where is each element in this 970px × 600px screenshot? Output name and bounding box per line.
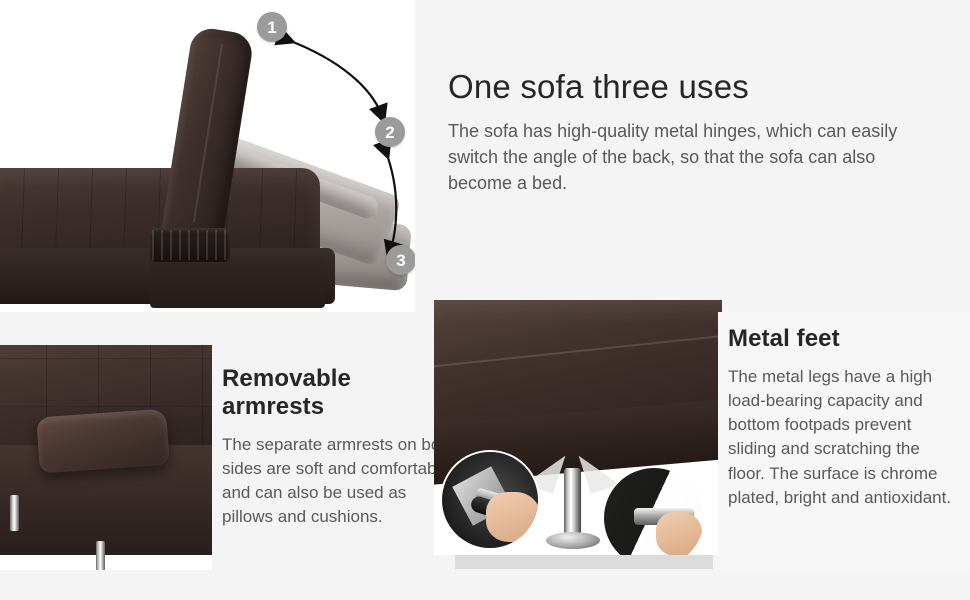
sofa-base-frame-extension xyxy=(150,258,325,308)
armrest-title: Removable armrests xyxy=(222,365,457,421)
step-badge-2: 2 xyxy=(375,117,405,147)
recline-photo: 1 2 3 xyxy=(0,0,415,312)
feet-body: The metal legs have a high load-bearing … xyxy=(728,365,960,510)
chrome-leg-footpad xyxy=(546,532,600,549)
leg-attachment-callout xyxy=(604,468,704,555)
chrome-leg-post xyxy=(564,468,581,540)
hand-icon-right xyxy=(656,512,702,555)
step-badge-3: 3 xyxy=(386,245,415,275)
recline-title: One sofa three uses xyxy=(448,68,940,106)
armrest-photo-panel xyxy=(0,345,212,570)
cushion-seam xyxy=(434,334,722,368)
feet-text-block: Metal feet The metal legs have a high lo… xyxy=(728,325,960,510)
recline-body: The sofa has high-quality metal hinges, … xyxy=(448,118,940,196)
chrome-leg-front xyxy=(96,541,105,570)
recline-photo-panel: 1 2 3 xyxy=(0,0,415,312)
chrome-leg-left xyxy=(10,495,19,531)
recline-text-block: One sofa three uses The sofa has high-qu… xyxy=(448,68,940,196)
metal-hinge-mechanism xyxy=(150,228,230,262)
feet-photo-shadow xyxy=(455,555,713,569)
backrest-seam xyxy=(193,44,223,222)
feet-photo-panel xyxy=(434,300,722,555)
removable-armrest-cushion xyxy=(36,409,170,474)
armrest-body: The separate armrests on both sides are … xyxy=(222,433,457,530)
feet-title: Metal feet xyxy=(728,325,960,353)
armrest-text-block: Removable armrests The separate armrests… xyxy=(222,365,457,530)
leg-mounting-plate-callout xyxy=(442,452,538,548)
step-badge-1: 1 xyxy=(257,12,287,42)
hand-icon-left xyxy=(486,492,538,542)
hinge-ribs xyxy=(152,230,228,260)
infographic-canvas: 1 2 3 One sofa three uses The sofa has h… xyxy=(0,0,970,600)
